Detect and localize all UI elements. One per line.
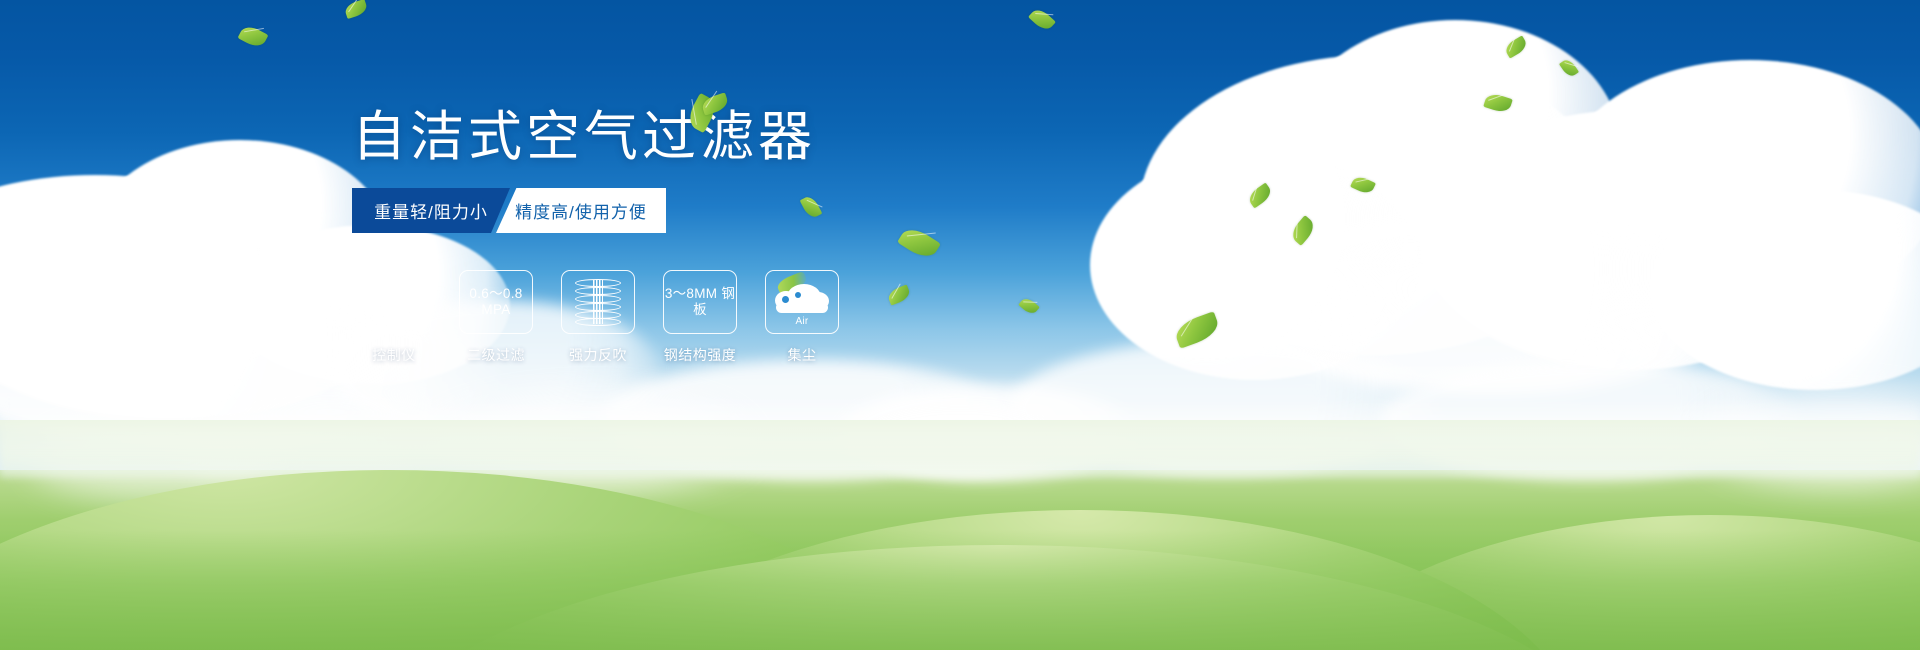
feature-label: 控制仪 — [372, 345, 416, 365]
air-cloud-icon: Air — [773, 280, 831, 324]
grass-foreground — [0, 530, 1920, 650]
feature-label: 钢结构强度 — [664, 345, 737, 365]
feature-item-steel-strength[interactable]: 3〜8MM 钢板 钢结构强度 — [663, 270, 737, 365]
tag-group: 重量轻/阻力小 精度高/使用方便 — [352, 188, 672, 233]
grass-ground — [0, 420, 1920, 650]
feature-icon-box — [561, 270, 635, 334]
gauge-icon: NO OFF — [366, 277, 422, 327]
feature-list: NO OFF 控制仪 0.6〜0.8 MPA 二级过滤 — [357, 270, 839, 365]
feature-label: 二级过滤 — [467, 345, 525, 365]
coil-filter-icon — [575, 278, 621, 326]
gauge-min-label: NO — [362, 297, 372, 304]
tag-weight-resistance[interactable]: 重量轻/阻力小 — [352, 188, 510, 233]
feature-icon-box: 0.6〜0.8 MPA — [459, 270, 533, 334]
ground-haze — [0, 420, 1920, 472]
tag-label: 重量轻/阻力小 — [374, 198, 488, 223]
feature-item-controller[interactable]: NO OFF 控制仪 — [357, 270, 431, 365]
tag-precision-convenience[interactable]: 精度高/使用方便 — [496, 188, 666, 233]
feature-box-text: 3〜8MM 钢板 — [664, 286, 736, 317]
air-label: Air — [773, 316, 831, 328]
tag-label: 精度高/使用方便 — [515, 198, 647, 223]
coil-core — [593, 280, 603, 324]
feature-box-text: 0.6〜0.8 MPA — [460, 286, 532, 317]
gauge-needle — [391, 286, 398, 320]
feature-item-blowback[interactable]: 强力反吹 — [561, 270, 635, 365]
feature-icon-box: NO OFF — [357, 270, 431, 334]
gauge-max-label: OFF — [407, 318, 420, 325]
feature-label: 强力反吹 — [569, 345, 627, 365]
product-banner: 自洁式空气过滤器 重量轻/阻力小 精度高/使用方便 — [0, 0, 1920, 650]
feature-icon-box: 3〜8MM 钢板 — [663, 270, 737, 334]
headline-block: 自洁式空气过滤器 重量轻/阻力小 精度高/使用方便 — [350, 110, 1050, 233]
feature-label: 集尘 — [788, 345, 817, 365]
feature-item-dust-collection[interactable]: Air 集尘 — [765, 270, 839, 365]
feature-item-two-stage-filter[interactable]: 0.6〜0.8 MPA 二级过滤 — [459, 270, 533, 365]
feature-icon-box: Air — [765, 270, 839, 334]
